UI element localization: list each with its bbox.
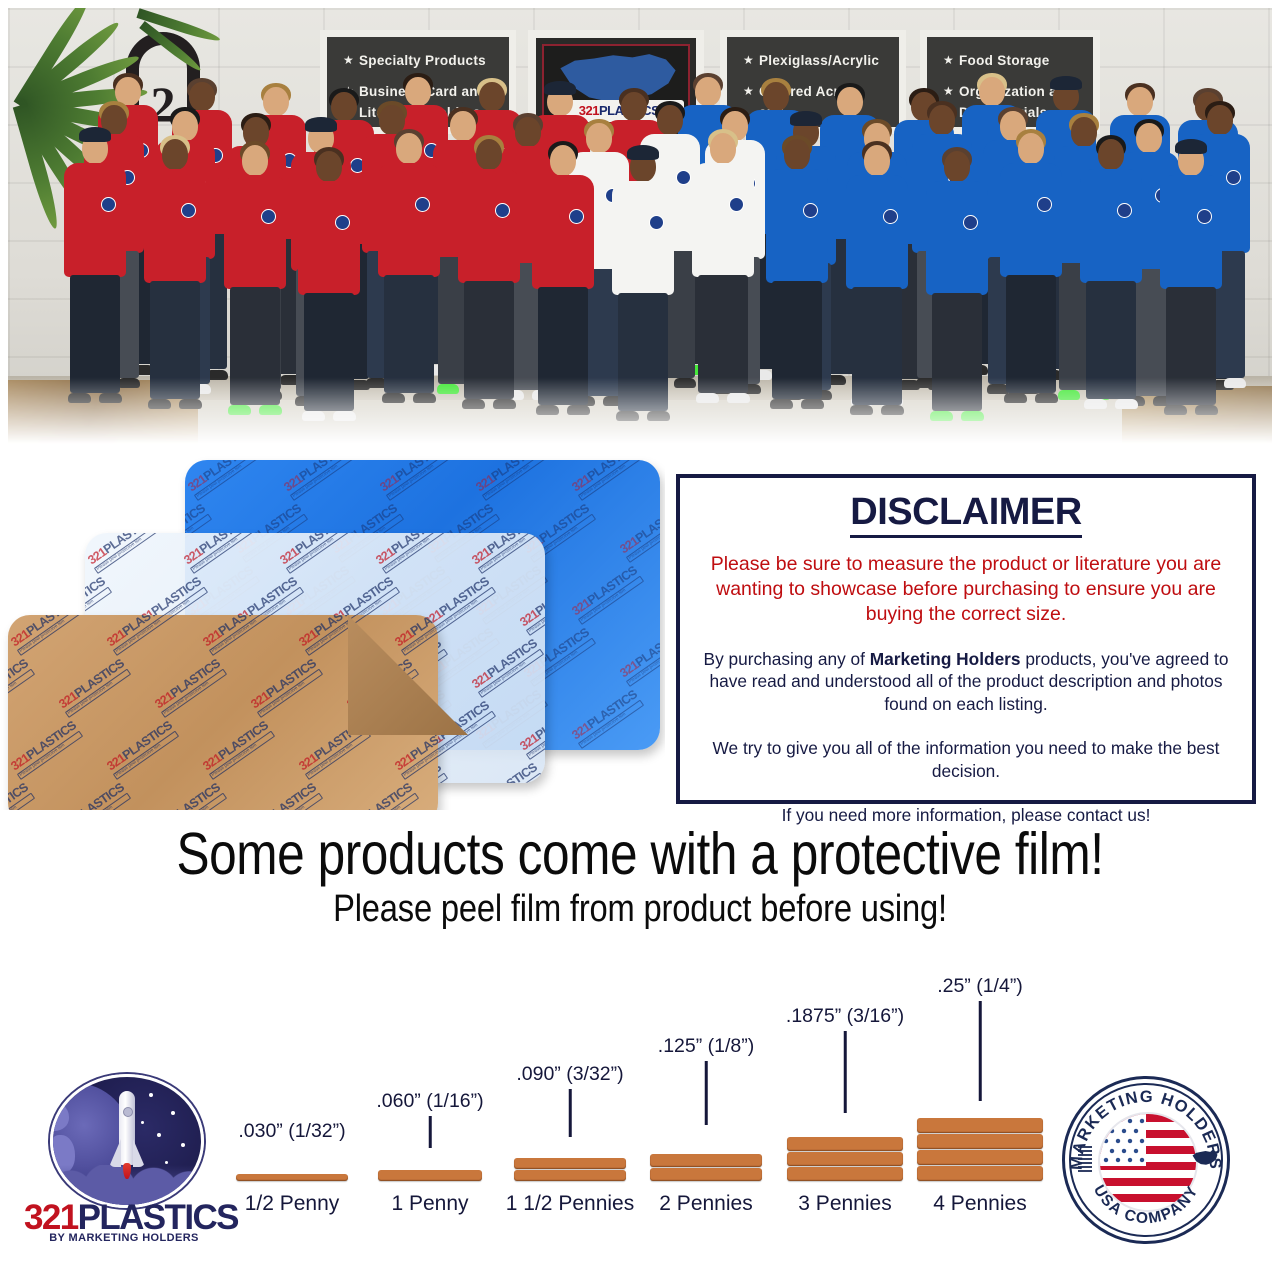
penny-stack — [787, 1137, 903, 1182]
leader-line — [705, 1061, 708, 1125]
shirt — [144, 169, 206, 283]
face — [162, 139, 188, 170]
shirt — [692, 163, 754, 277]
team-member — [926, 149, 988, 421]
shirt — [224, 175, 286, 289]
penny-coin — [787, 1152, 903, 1166]
disclaimer-warning-text: Please be sure to measure the product or… — [702, 552, 1230, 627]
shirt-logo-badge — [1226, 170, 1241, 185]
film-watermark: 321PLASTICSPlease peel protective film — [8, 781, 35, 810]
team-member — [224, 143, 286, 415]
face — [476, 139, 502, 170]
shoe — [437, 384, 460, 394]
team-member — [766, 137, 828, 409]
sign-line: Specialty Products — [343, 51, 493, 71]
disclaimer-title: DISCLAIMER — [850, 492, 1081, 538]
penny-count-label: 4 Pennies — [933, 1192, 1026, 1216]
leader-line — [979, 1001, 982, 1101]
shoe — [881, 405, 905, 415]
face — [331, 92, 356, 122]
team-member — [612, 149, 674, 421]
shoe — [1164, 405, 1188, 415]
pants — [538, 287, 589, 405]
rocket-globe-emblem — [50, 1074, 204, 1208]
film-watermark: 321PLASTICSPlease peel protective film — [570, 460, 644, 501]
thickness-label: .090” (3/32”) — [516, 1063, 623, 1086]
cap-icon — [305, 117, 336, 132]
penny-coin — [917, 1118, 1043, 1133]
face — [837, 87, 862, 117]
shoe — [567, 405, 591, 415]
film-watermark: 321PLASTICSPlease peel protective film — [618, 626, 660, 687]
rocket-icon — [110, 1091, 144, 1187]
film-watermark: 321PLASTICSPlease peel protective film — [518, 699, 545, 760]
face — [242, 145, 268, 176]
film-watermark: 321PLASTICSPlease peel protective film — [249, 657, 323, 718]
infographic-page: 2 Specialty Products Business Card and L… — [0, 0, 1280, 1280]
badge-curved-text: MARKETING HOLDERS USA COMPANY — [1062, 1076, 1230, 1244]
shoe — [1115, 399, 1139, 409]
leader-line — [429, 1116, 432, 1148]
shoe — [99, 393, 123, 403]
face — [396, 133, 422, 164]
shoe — [179, 399, 203, 409]
pants — [384, 275, 435, 393]
penny-coin — [378, 1170, 482, 1181]
team-member — [846, 143, 908, 415]
face — [1018, 133, 1044, 164]
shoe — [148, 399, 172, 409]
face — [864, 145, 890, 176]
cap-icon — [544, 81, 575, 96]
face — [550, 145, 576, 176]
shoe — [493, 399, 517, 409]
team-member — [1000, 131, 1062, 403]
face — [979, 77, 1004, 107]
shoe — [68, 393, 92, 403]
team-member — [144, 137, 206, 409]
shoe — [696, 393, 720, 403]
face — [479, 82, 504, 112]
disclaimer-box: DISCLAIMER Please be sure to measure the… — [676, 474, 1256, 804]
penny-coin — [514, 1170, 626, 1181]
team-photo: 2 Specialty Products Business Card and L… — [8, 8, 1272, 448]
para1-before: By purchasing any of — [704, 649, 870, 669]
film-watermark: 321PLASTICSPlease peel protective film — [86, 533, 160, 574]
penny-coin — [650, 1168, 762, 1181]
pants — [932, 293, 983, 411]
face — [784, 139, 810, 170]
film-watermark: 321PLASTICSPlease peel protective film — [470, 533, 544, 574]
face — [1098, 139, 1124, 170]
shoe — [228, 405, 252, 415]
penny-stack — [650, 1154, 762, 1182]
penny-coin — [787, 1167, 903, 1181]
pants — [1086, 281, 1137, 399]
shoe — [413, 393, 437, 403]
logo-321plastics: 321PLASTICS BY MARKETING HOLDERS — [24, 1072, 224, 1242]
cap-icon — [790, 111, 821, 126]
film-watermark: 321PLASTICSPlease peel protective film — [470, 637, 544, 698]
logo-wordmark: 321PLASTICS — [24, 1200, 224, 1235]
penny-coin — [917, 1166, 1043, 1181]
marketing-holders-badge: MARKETING HOLDERS USA COMPANY — [1062, 1076, 1230, 1244]
pants — [1166, 287, 1217, 405]
cap-icon — [79, 127, 111, 142]
film-watermark: 321PLASTICSPlease peel protective film — [105, 615, 179, 656]
cap-icon — [627, 145, 659, 160]
thickness-label: .1875” (3/16”) — [786, 1005, 904, 1028]
shoe — [462, 399, 486, 409]
shirt — [766, 169, 828, 283]
shoe — [1084, 399, 1108, 409]
shoe — [536, 405, 560, 415]
face — [263, 87, 288, 117]
leader-line — [569, 1089, 572, 1137]
pants — [150, 281, 201, 399]
shoe — [770, 399, 794, 409]
cap-icon — [1175, 139, 1207, 154]
film-watermark: 321PLASTICSPlease peel protective film — [9, 615, 83, 656]
shirt — [1080, 169, 1142, 283]
shoe — [801, 399, 825, 409]
face — [405, 77, 430, 107]
shirt-logo-badge — [676, 170, 691, 185]
film-watermark: 321PLASTICSPlease peel protective film — [201, 719, 275, 780]
pants — [852, 287, 903, 405]
penny-coin — [514, 1158, 626, 1169]
film-watermark: 321PLASTICSPlease peel protective film — [570, 564, 644, 625]
film-watermark: 321PLASTICSPlease peel protective film — [57, 657, 131, 718]
disclaimer-paragraph-1: By purchasing any of Marketing Holders p… — [702, 648, 1230, 715]
face — [316, 151, 342, 182]
film-watermark: 321PLASTICSPlease peel protective film — [474, 460, 548, 501]
shoe — [1224, 378, 1247, 388]
shirt — [458, 169, 520, 283]
penny-count-label: 2 Pennies — [659, 1192, 752, 1216]
pants — [698, 275, 749, 393]
film-watermark: 321PLASTICSPlease peel protective film — [249, 781, 323, 810]
shoe — [647, 411, 671, 421]
face — [1127, 87, 1152, 117]
penny-count-label: 1 1/2 Pennies — [506, 1192, 634, 1216]
film-watermark: 321PLASTICSPlease peel protective film — [570, 688, 644, 749]
shoe — [1035, 393, 1059, 403]
shirt — [532, 175, 594, 289]
penny-stack — [917, 1118, 1043, 1182]
team-member — [64, 131, 126, 403]
shoe — [961, 411, 985, 421]
film-watermark: 321PLASTICSPlease peel protective film — [278, 533, 352, 574]
pants — [772, 281, 823, 399]
penny-coin — [787, 1137, 903, 1151]
film-watermark: 321PLASTICSPlease peel protective film — [282, 460, 356, 501]
face — [929, 105, 954, 135]
shirt — [846, 175, 908, 289]
shoe — [930, 411, 954, 421]
penny-stack — [378, 1170, 482, 1182]
penny-coin — [917, 1134, 1043, 1149]
team-member — [692, 131, 754, 403]
shirt — [64, 163, 126, 277]
face — [1207, 105, 1232, 135]
film-watermark: 321PLASTICSPlease peel protective film — [470, 761, 544, 783]
film-watermark: 321PLASTICSPlease peel protective film — [57, 781, 131, 810]
team-member — [532, 143, 594, 415]
svg-text:MARKETING HOLDERS: MARKETING HOLDERS — [1068, 1088, 1224, 1171]
pants — [1006, 275, 1057, 393]
para1-bold-brand: Marketing Holders — [870, 649, 1021, 669]
headline-sub: Please peel film from product before usi… — [90, 888, 1191, 931]
penny-coin — [236, 1174, 348, 1181]
shirt — [298, 181, 360, 295]
cap-icon — [1050, 76, 1081, 91]
penny-stack — [514, 1158, 626, 1182]
pants — [70, 275, 121, 393]
film-watermark: 321PLASTICSPlease peel protective film — [186, 460, 260, 501]
film-watermark: 321PLASTICSPlease peel protective film — [182, 533, 256, 574]
face — [710, 133, 736, 164]
shoe — [382, 393, 406, 403]
shirt — [926, 181, 988, 295]
pants — [230, 287, 281, 405]
logo-tagline: BY MARKETING HOLDERS — [24, 1232, 224, 1244]
film-watermark: 321PLASTICSPlease peel protective film — [153, 781, 227, 810]
face — [695, 77, 720, 107]
thickness-label: .125” (1/8”) — [658, 1035, 754, 1058]
team-member — [458, 137, 520, 409]
film-watermark: 321PLASTICSPlease peel protective film — [153, 657, 227, 718]
penny-coin — [650, 1154, 762, 1167]
pants — [304, 293, 355, 411]
penny-coin — [917, 1150, 1043, 1165]
svg-text:USA COMPANY: USA COMPANY — [1090, 1182, 1202, 1227]
pants — [464, 281, 515, 399]
shoe — [302, 411, 326, 421]
face — [944, 151, 970, 182]
sign-line: Plexiglass/Acrylic — [743, 51, 883, 71]
penny-count-label: 1 Penny — [391, 1192, 468, 1216]
shoe — [333, 411, 357, 421]
film-watermark: 321PLASTICSPlease peel protective film — [618, 502, 660, 563]
penny-column: .25” (1/4”)4 Pennies — [890, 970, 1070, 1220]
shirt — [612, 181, 674, 295]
team-member — [298, 149, 360, 421]
face — [189, 82, 214, 112]
film-watermark: 321PLASTICSPlease peel protective film — [8, 657, 35, 718]
film-watermark: 321PLASTICSPlease peel protective film — [393, 615, 438, 656]
team-member — [1160, 143, 1222, 415]
pants — [618, 293, 669, 411]
film-watermark: 321PLASTICSPlease peel protective film — [374, 533, 448, 574]
team-member — [378, 131, 440, 403]
face — [657, 105, 682, 135]
thickness-label: .030” (1/32”) — [238, 1120, 345, 1143]
shoe — [1004, 393, 1028, 403]
shoe — [616, 411, 640, 421]
penny-stack — [236, 1174, 348, 1182]
palm-frond-top — [138, 8, 248, 58]
shoe — [850, 405, 874, 415]
sign-line: Food Storage — [943, 51, 1077, 71]
penny-count-label: 1/2 Penny — [245, 1192, 340, 1216]
shirt — [1000, 163, 1062, 277]
penny-count-label: 3 Pennies — [798, 1192, 891, 1216]
thickness-label: .25” (1/4”) — [937, 975, 1023, 998]
shoe — [259, 405, 283, 415]
shirt — [1160, 175, 1222, 289]
film-watermark: 321PLASTICSPlease peel protective film — [345, 781, 419, 810]
disclaimer-paragraph-2: We try to give you all of the informatio… — [702, 737, 1230, 782]
headline-main: Some products come with a protective fil… — [102, 824, 1177, 886]
thickness-label: .060” (1/16”) — [376, 1090, 483, 1113]
team-member — [1080, 137, 1142, 409]
film-watermark: 321PLASTICSPlease peel protective film — [105, 719, 179, 780]
film-watermark: 321PLASTICSPlease peel protective film — [518, 575, 545, 636]
film-watermark: 321PLASTICSPlease peel protective film — [9, 719, 83, 780]
film-watermark: 321PLASTICSPlease peel protective film — [201, 615, 275, 656]
protective-film-product-image: 321PLASTICSPlease peel protective film32… — [0, 455, 665, 810]
film-watermark: 321PLASTICSPlease peel protective film — [378, 460, 452, 501]
shoe — [727, 393, 751, 403]
leader-line — [844, 1031, 847, 1113]
shirt — [378, 163, 440, 277]
face — [763, 82, 788, 112]
shoe — [1195, 405, 1219, 415]
